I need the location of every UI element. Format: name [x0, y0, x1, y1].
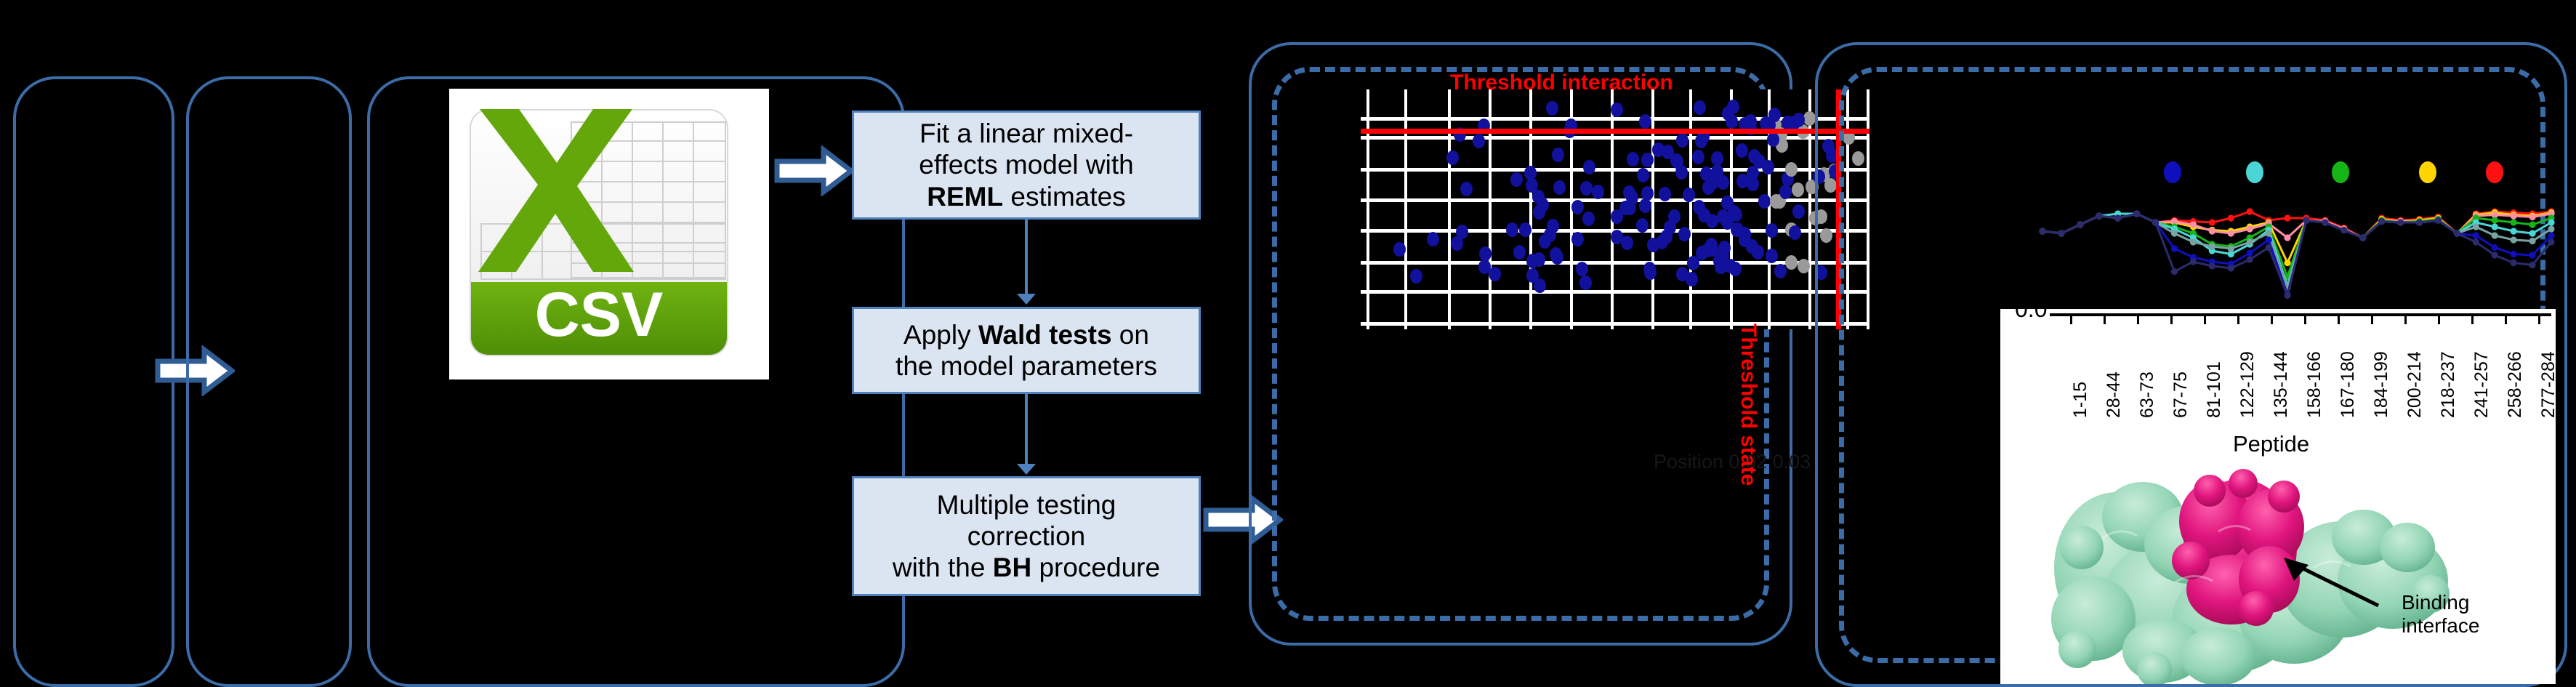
scatter-point [1766, 223, 1778, 238]
peptide-line-chart [2021, 178, 2573, 309]
scatter-point [1729, 262, 1742, 276]
scatter-point [1456, 225, 1468, 239]
peptide-tick-mark [2104, 315, 2106, 324]
peptide-data-point [2435, 217, 2442, 223]
scatter-point [1460, 182, 1473, 196]
scatter-point [1489, 267, 1501, 281]
peptide-tick-mark [2438, 315, 2440, 324]
scatter-point [1713, 254, 1726, 268]
scatter-point [1626, 190, 1638, 205]
panel-analysis [367, 76, 905, 687]
scatter-point [1644, 265, 1657, 280]
peptide-data-point [2511, 219, 2517, 225]
peptide-tick-mark [2371, 315, 2373, 324]
scatter-point [1662, 145, 1674, 159]
scatter-point [1779, 185, 1792, 199]
peptide-data-point [2284, 214, 2290, 221]
scatter-point [1744, 114, 1757, 129]
peptide-data-point [2209, 243, 2215, 249]
peptide-data-point [2492, 223, 2498, 230]
scatter-point [1700, 166, 1712, 181]
scatter-point [1683, 188, 1695, 202]
peptide-tick-label: 28-44 [2104, 371, 2125, 418]
peptide-data-point [2266, 244, 2272, 251]
scatter-point [1792, 182, 1804, 197]
scatter-point [1694, 100, 1706, 115]
scatter-point [1736, 174, 1749, 188]
peptide-data-point [2228, 245, 2234, 252]
peptide-data-point [2171, 245, 2178, 252]
scatter-point [1639, 114, 1651, 129]
step-box-2[interactable]: Apply Wald tests onthe model parameters [852, 307, 1201, 394]
step-3-text: Multiple testingcorrectionwith the BH pr… [893, 489, 1160, 584]
scatter-gridline-h [1361, 198, 1869, 202]
scatter-point [1774, 264, 1787, 278]
scatter-point [1579, 276, 1592, 290]
peptide-tick-label: 158-166 [2304, 351, 2325, 418]
scatter-point [1767, 132, 1779, 147]
scatter-gridline-h [1361, 136, 1869, 140]
scatter-point [1553, 180, 1566, 195]
peptide-tick-label: 184-199 [2371, 351, 2392, 418]
peptide-data-point [2548, 232, 2554, 238]
peptide-data-point [2511, 236, 2517, 243]
connector-1-2-arrowhead [1017, 294, 1036, 305]
scatter-point [1668, 209, 1681, 224]
peptide-tick-label: 241-257 [2471, 351, 2492, 418]
peptide-data-point [2284, 292, 2290, 299]
peptide-tick-label: 122-129 [2237, 351, 2258, 418]
peptide-data-point [2378, 218, 2385, 225]
peptide-data-point [2529, 221, 2535, 228]
peptide-data-point [2209, 262, 2215, 269]
scatter-point [1519, 222, 1531, 237]
scatter-point [1659, 187, 1671, 201]
peptide-data-point [2529, 262, 2535, 268]
scatter-point [1676, 133, 1689, 148]
threshold-state-label: Threshold state [1736, 324, 1760, 486]
step-box-1[interactable]: Fit a linear mixed-effects model withREM… [852, 111, 1201, 220]
scatter-point [1785, 162, 1798, 177]
scatter-point [1692, 150, 1704, 164]
peptide-data-point [2340, 227, 2347, 233]
peptide-tick-mark [2170, 315, 2173, 324]
peptide-data-point [2209, 219, 2215, 225]
peptide-data-point [2284, 234, 2290, 241]
peptide-tick-label: 63-73 [2137, 371, 2158, 418]
peptide-data-point [2529, 230, 2535, 236]
peptide-data-point [2473, 232, 2479, 238]
peptide-data-point [2511, 228, 2517, 234]
scatter-point [1473, 134, 1485, 148]
peptide-data-point [2492, 244, 2498, 251]
peptide-data-point [2096, 212, 2102, 219]
peptide-data-point [2548, 225, 2554, 232]
peptide-data-point [2548, 238, 2554, 245]
peptide-data-point [2247, 249, 2253, 256]
peptide-data-point [2473, 238, 2479, 245]
peptide-data-point [2529, 214, 2535, 220]
scatter-point [1510, 172, 1523, 187]
scatter-point [1641, 153, 1654, 167]
scatter-point [1513, 245, 1526, 260]
scatter-point [1637, 168, 1649, 182]
peptide-tick-label: 1-15 [2070, 382, 2091, 418]
scatter-point [1611, 209, 1623, 224]
scatter-point [1717, 175, 1729, 190]
peptide-data-point [2190, 258, 2197, 265]
peptide-data-point [2454, 230, 2460, 236]
peptide-tick-mark [2538, 315, 2540, 324]
peptide-tick-label: 135-144 [2271, 351, 2292, 418]
peptide-data-point [2039, 228, 2045, 234]
peptide-data-point [2247, 256, 2253, 262]
scatter-point [1678, 227, 1691, 241]
scatter-point [1571, 232, 1584, 246]
peptide-data-point [2284, 260, 2290, 266]
peptide-data-point [2133, 210, 2140, 217]
peptide-data-point [2492, 232, 2498, 238]
scatter-point [1571, 200, 1584, 214]
scatter-point [1580, 181, 1593, 196]
peptide-data-point [2058, 230, 2064, 236]
step-box-3[interactable]: Multiple testingcorrectionwith the BH pr… [852, 476, 1201, 596]
step-2-text: Apply Wald tests onthe model parameters [895, 319, 1157, 382]
peptide-data-point [2492, 217, 2498, 223]
peptide-y-tick-label: 0.0 [2015, 309, 2047, 323]
scatter-point [1546, 101, 1558, 116]
peptide-tick-mark [2304, 315, 2306, 324]
scatter-point [1675, 165, 1688, 180]
peptide-data-point [2303, 217, 2309, 223]
scatter-point [1506, 222, 1518, 237]
connector-2-3-arrowhead [1017, 464, 1036, 475]
peptide-data-point [2266, 236, 2272, 243]
peptide-data-point [2209, 228, 2215, 234]
peptide-data-point [2266, 230, 2272, 236]
scatter-point [1722, 106, 1734, 121]
binding-interface-label: Binding interface [2402, 591, 2479, 638]
connector-2-3 [1025, 394, 1028, 467]
peptide-tick-label: 81-101 [2204, 361, 2225, 418]
scatter-point [1576, 262, 1588, 276]
peptide-data-point [2228, 214, 2234, 221]
scatter-point [1803, 111, 1816, 126]
scatter-point [1660, 230, 1673, 244]
scatter-gridline-h [1361, 290, 1869, 294]
scatter-point [1446, 150, 1459, 165]
scatter-point [1552, 148, 1564, 162]
connector-1-2 [1025, 220, 1028, 296]
peptide-data-point [2416, 219, 2423, 225]
peptide-tick-host: 1-1528-4463-7367-7581-101122-129135-1441… [2000, 309, 2556, 440]
peptide-tick-label: 277-284 [2538, 351, 2556, 418]
protein-structure-image [2000, 451, 2556, 684]
scatter-point [1736, 143, 1748, 158]
threshold-interaction-line [1361, 129, 1869, 134]
scatter-point [1785, 255, 1798, 270]
scatter-point [1647, 238, 1659, 252]
peptide-tick-mark [2237, 315, 2239, 324]
peptide-data-point [2228, 265, 2234, 271]
scatter-point [1582, 212, 1595, 226]
peptide-data-point [2114, 214, 2121, 221]
scatter-point [1695, 134, 1707, 148]
peptide-data-point [2171, 230, 2178, 236]
panel-input [13, 76, 174, 687]
scatter-point [1479, 246, 1492, 261]
peptide-data-point [2511, 212, 2517, 219]
peptide-data-point [2511, 251, 2517, 257]
scatter-point [1639, 198, 1651, 213]
peptide-data-point [2359, 234, 2366, 241]
peptide-data-point [2511, 260, 2517, 266]
scatter-point [1534, 278, 1546, 293]
scatter-point [1583, 160, 1595, 174]
scatter-point [1693, 200, 1705, 214]
peptide-tick-label: 200-214 [2404, 351, 2426, 418]
panel-csv [186, 76, 352, 687]
peptide-data-point [2190, 238, 2197, 245]
peptide-data-point [2397, 219, 2404, 225]
scatter-point [1686, 272, 1698, 286]
scatter-point [1524, 166, 1537, 180]
peptide-tick-mark [2404, 315, 2407, 324]
scatter-point [1762, 160, 1774, 174]
scatter-point [1627, 152, 1639, 166]
step-1-text: Fit a linear mixed-effects model withREM… [919, 118, 1133, 212]
peptide-tick-mark [2271, 315, 2273, 324]
peptide-data-point [2322, 219, 2328, 225]
scatter-point [1706, 214, 1718, 228]
scatter-point [1526, 254, 1539, 268]
peptide-data-point [2473, 223, 2479, 230]
scatter-plot-area [1361, 89, 1869, 329]
peptide-data-point [2077, 221, 2083, 228]
scatter-point [1717, 209, 1729, 224]
scatter-point [1611, 103, 1623, 117]
scatter-point [1718, 241, 1731, 255]
scatter-point [1621, 236, 1633, 250]
scatter-point [1641, 186, 1654, 201]
scatter-ghost-axis-text: Position 0.02 0.03 [1654, 451, 1811, 473]
peptide-tick-mark [2137, 315, 2139, 324]
peptide-structure-card: Peptide 1-1528-4463-7367-7581-101122-129… [2000, 309, 2556, 684]
peptide-data-point [2152, 219, 2159, 225]
scatter-point [1789, 225, 1801, 240]
peptide-data-point [2247, 208, 2253, 214]
peptide-tick-mark [2471, 315, 2474, 324]
peptide-tick-label: 218-237 [2438, 351, 2459, 418]
peptide-data-point [2228, 230, 2234, 236]
peptide-data-point [2548, 219, 2554, 225]
scatter-point [1792, 204, 1805, 219]
scatter-point [1410, 269, 1422, 284]
peptide-tick-mark [2338, 315, 2340, 324]
scatter-point [1427, 232, 1439, 246]
scatter-point [1592, 185, 1604, 199]
peptide-tick-mark [2204, 315, 2206, 324]
peptide-data-point [2247, 225, 2253, 232]
peptide-data-point [2190, 221, 2197, 228]
scatter-point [1798, 259, 1810, 273]
scatter-point [1532, 190, 1545, 204]
peptide-data-point [2492, 252, 2498, 258]
peptide-data-point [2529, 238, 2535, 244]
scatter-point [1768, 108, 1781, 122]
peptide-tick-mark [2505, 315, 2507, 324]
figure-canvas: CSV Fit a linear mixed-effects model wit… [0, 0, 2576, 687]
peptide-data-point [2247, 238, 2253, 245]
peptide-tick-label: 258-266 [2505, 351, 2526, 418]
peptide-data-point [2171, 268, 2178, 275]
scatter-point [1550, 247, 1562, 262]
scatter-gridline-h [1361, 322, 1869, 326]
peptide-tick-label: 167-180 [2338, 351, 2359, 418]
scatter-point [1792, 113, 1805, 127]
peptide-tick-label: 67-75 [2170, 371, 2191, 418]
peptide-data-point [2529, 252, 2535, 258]
peptide-tick-mark [2070, 315, 2072, 324]
